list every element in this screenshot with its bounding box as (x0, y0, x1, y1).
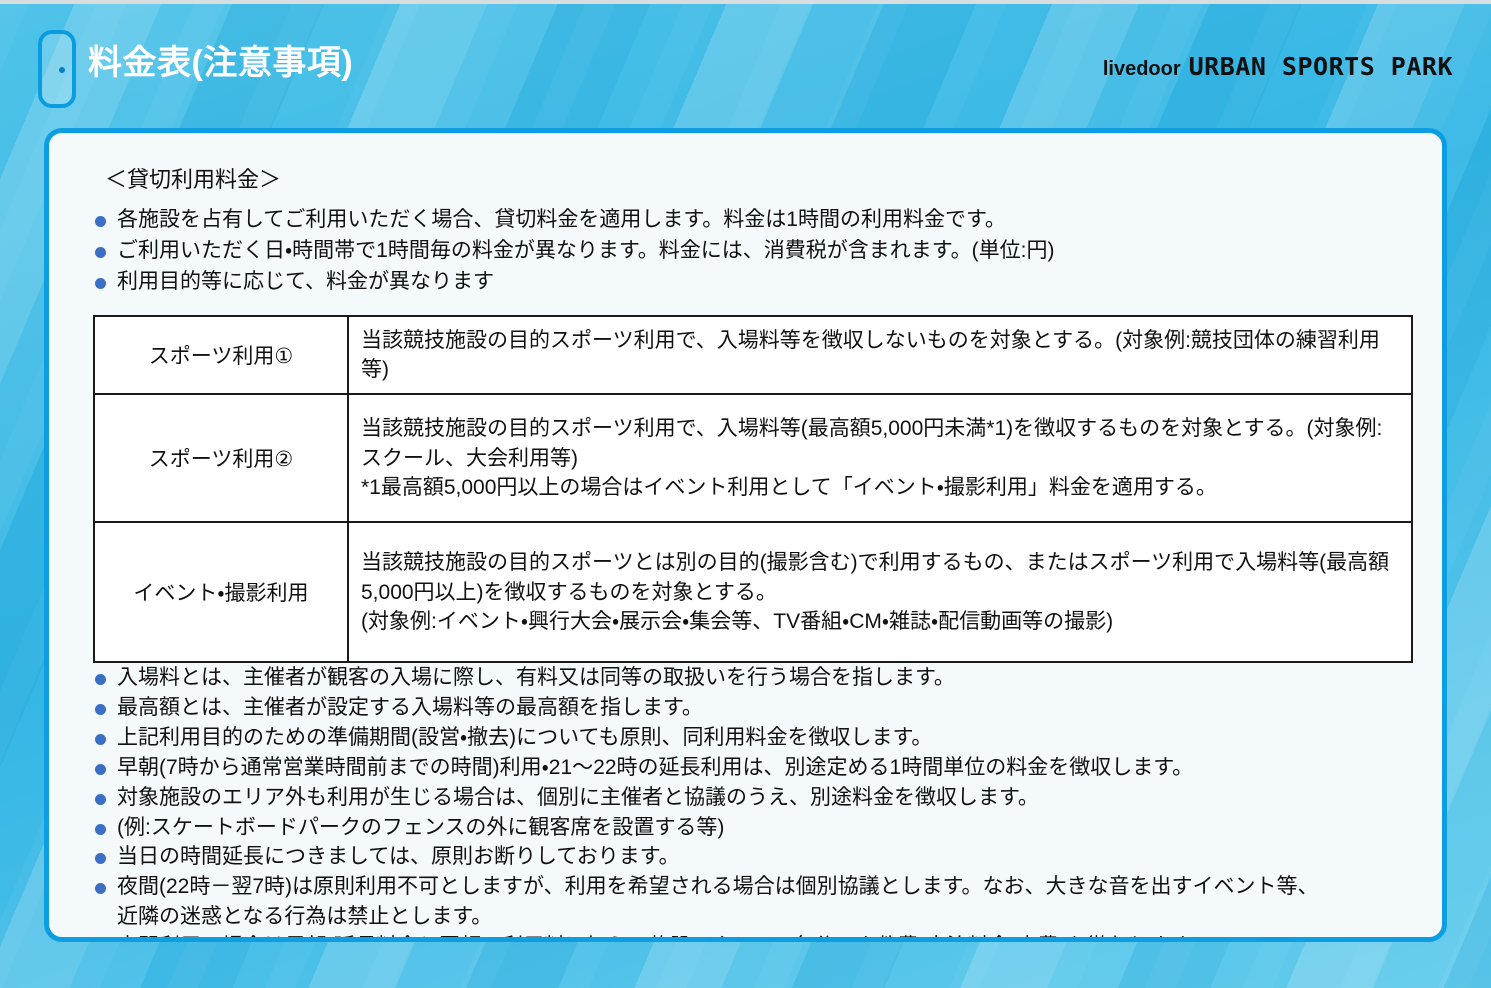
list-item: 最高額とは、主催者が設定する入場料等の最高額を指します。 (87, 693, 1404, 723)
table-row: イベント・撮影利用 当該競技施設の目的スポーツとは別の目的(撮影含む)で利用する… (94, 522, 1412, 662)
table-cell-description: 当該競技施設の目的スポーツとは別の目的(撮影含む)で利用するもの、またはスポーツ… (348, 522, 1412, 662)
notes-bullet-list: 入場料とは、主催者が観客の入場に際し、有料又は同等の取扱いを行う場合を指します。… (87, 663, 1404, 942)
table-cell-description: 当該競技施設の目的スポーツ利用で、入場料等を徴収しないものを対象とする。(対象例… (348, 316, 1412, 394)
page-header: 料金表(注意事項) livedoorURBAN SPORTS PARK (0, 0, 1491, 120)
table-cell-category: スポーツ利用① (94, 316, 348, 394)
door-knob-icon (59, 67, 65, 73)
page-title: 料金表(注意事項) (88, 46, 353, 80)
list-item: 上記利用目的のための準備期間(設営・撤去)についても原則、同利用料金を徴収します… (87, 723, 1404, 753)
table-row: スポーツ利用① 当該競技施設の目的スポーツ利用で、入場料等を徴収しないものを対象… (94, 316, 1412, 394)
brand-livedoor-text: livedoor (1103, 58, 1181, 80)
table-row: スポーツ利用② 当該競技施設の目的スポーツ利用で、入場料等(最高額5,000円未… (94, 394, 1412, 522)
list-item: 夜間利用の場合は早朝・延長料金と同額の利用料に加え、施設スタッフ1 名分の人件費… (87, 932, 1404, 942)
brand-logo: livedoorURBAN SPORTS PARK (1103, 54, 1453, 79)
intro-bullet-list: 各施設を占有してご利用いただく場合、貸切料金を適用します。料金は1時間の利用料金… (87, 205, 1404, 297)
list-item: 当日の時間延長につきましては、原則お断りしております。 (87, 842, 1404, 872)
page-root: 料金表(注意事項) livedoorURBAN SPORTS PARK ＜貸切利… (0, 0, 1491, 988)
list-item: (例:スケートボードパークのフェンスの外に観客席を設置する等) (87, 813, 1404, 843)
table-cell-category: イベント・撮影利用 (94, 522, 348, 662)
list-item: 対象施設のエリア外も利用が生じる場合は、個別に主催者と協議のうえ、別途料金を徴収… (87, 783, 1404, 813)
section-heading: ＜貸切利用料金＞ (105, 167, 1404, 193)
list-item: 利用目的等に応じて、料金が異なります (87, 267, 1404, 297)
brand-urban-sports-park-text: URBAN SPORTS PARK (1189, 52, 1453, 81)
table-cell-description: 当該競技施設の目的スポーツ利用で、入場料等(最高額5,000円未満*1)を徴収す… (348, 394, 1412, 522)
list-item: ご利用いただく日・時間帯で1時間毎の料金が異なります。料金には、消費税が含まれま… (87, 236, 1404, 266)
fee-category-table: スポーツ利用① 当該競技施設の目的スポーツ利用で、入場料等を徴収しないものを対象… (93, 315, 1413, 663)
content-card: ＜貸切利用料金＞ 各施設を占有してご利用いただく場合、貸切料金を適用します。料金… (44, 128, 1447, 942)
list-item: 夜間(22時－翌7時)は原則利用不可としますが、利用を希望される場合は個別協議と… (87, 872, 1404, 932)
table-cell-category: スポーツ利用② (94, 394, 348, 522)
list-item: 早朝(7時から通常営業時間前までの時間)利用・21～22時の延長利用は、別途定め… (87, 753, 1404, 783)
list-item: 入場料とは、主催者が観客の入場に際し、有料又は同等の取扱いを行う場合を指します。 (87, 663, 1404, 693)
door-icon (38, 30, 76, 108)
list-item: 各施設を占有してご利用いただく場合、貸切料金を適用します。料金は1時間の利用料金… (87, 205, 1404, 235)
